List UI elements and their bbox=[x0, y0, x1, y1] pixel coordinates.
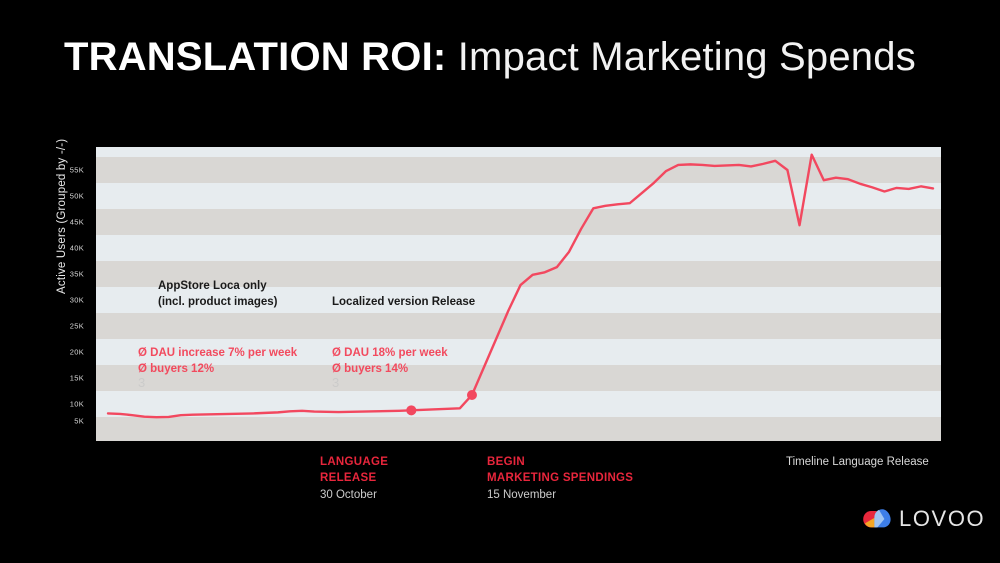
y-tick-45k: 45K bbox=[70, 218, 84, 227]
series-marker-0 bbox=[406, 405, 416, 415]
callout-marketing-spendings: BEGIN MARKETING SPENDINGS 15 November bbox=[487, 455, 633, 503]
callout-language-release: LANGUAGE RELEASE 30 October bbox=[320, 455, 388, 503]
series-line-chart bbox=[96, 147, 941, 441]
slide: TRANSLATION ROI: Impact Marketing Spends… bbox=[0, 0, 1000, 563]
lovoo-wordmark: LOVOO bbox=[899, 506, 985, 532]
y-tick-10k: 10K bbox=[70, 400, 84, 409]
page-title: TRANSLATION ROI: Impact Marketing Spends bbox=[64, 32, 916, 82]
y-tick-35k: 35K bbox=[70, 270, 84, 279]
callout-2-kicker-line2: MARKETING SPENDINGS bbox=[487, 471, 633, 487]
plot-background: AppStore Loca only (incl. product images… bbox=[96, 147, 941, 441]
y-axis: 55K 50K 45K 40K 35K 30K 25K 20K 15K 10K … bbox=[0, 147, 90, 441]
x-axis-note: Timeline Language Release bbox=[786, 456, 929, 468]
series-marker-1 bbox=[467, 390, 477, 400]
lovoo-heart-icon bbox=[862, 505, 892, 533]
callout-2-kicker-line1: BEGIN bbox=[487, 455, 633, 471]
y-tick-25k: 25K bbox=[70, 322, 84, 331]
y-tick-50k: 50K bbox=[70, 192, 84, 201]
y-tick-5k: 5K bbox=[74, 417, 84, 426]
y-tick-20k: 20K bbox=[70, 348, 84, 357]
title-light: Impact Marketing Spends bbox=[446, 35, 915, 79]
callout-1-kicker-line2: RELEASE bbox=[320, 471, 388, 487]
callout-1-kicker-line1: LANGUAGE bbox=[320, 455, 388, 471]
y-tick-40k: 40K bbox=[70, 244, 84, 253]
callout-1-date: 30 October bbox=[320, 487, 388, 503]
series-path bbox=[108, 155, 933, 418]
lovoo-logo: LOVOO bbox=[862, 505, 985, 533]
y-tick-55k: 55K bbox=[70, 166, 84, 175]
y-tick-30k: 30K bbox=[70, 296, 84, 305]
title-bold: TRANSLATION ROI: bbox=[64, 35, 446, 79]
chart-plot-area: AppStore Loca only (incl. product images… bbox=[96, 147, 941, 441]
y-tick-15k: 15K bbox=[70, 374, 84, 383]
y-axis-title: Active Users (Grouped by -/-) bbox=[56, 94, 68, 294]
callout-2-date: 15 November bbox=[487, 487, 633, 503]
